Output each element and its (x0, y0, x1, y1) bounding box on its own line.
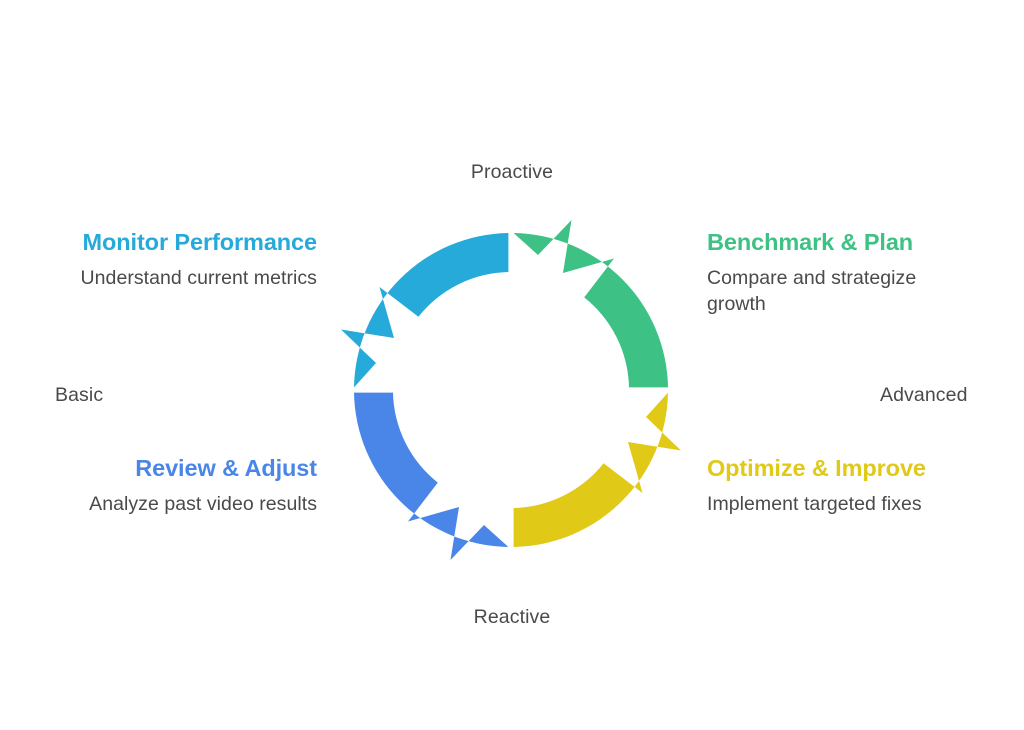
ring-segment-benchmark-plan[interactable] (514, 220, 668, 387)
quadrant-description-benchmark-plan: Compare and strategize growth (707, 266, 939, 317)
quadrant-description-optimize-improve: Implement targeted fixes (707, 492, 1007, 518)
quadrant-title-optimize-improve: Optimize & Improve (707, 454, 1007, 483)
axis-label-basic: Basic (55, 384, 103, 407)
ring-segment-monitor-performance[interactable] (341, 233, 508, 387)
diagram-canvas: Proactive Reactive Basic Advanced Monito… (0, 0, 1024, 730)
quadrant-review-adjust[interactable]: Review & Adjust Analyze past video resul… (17, 454, 317, 518)
cycle-ring-graphic (336, 215, 686, 565)
ring-arrow-review-adjust (354, 393, 508, 560)
quadrant-title-review-adjust: Review & Adjust (17, 454, 317, 483)
quadrant-description-monitor-performance: Understand current metrics (17, 266, 317, 292)
quadrant-benchmark-plan[interactable]: Benchmark & Plan Compare and strategize … (707, 228, 1007, 318)
ring-segment-optimize-improve[interactable] (514, 393, 681, 547)
ring-segment-review-adjust[interactable] (354, 393, 508, 560)
ring-arrow-benchmark-plan (514, 220, 668, 387)
axis-label-reactive: Reactive (0, 606, 1024, 629)
quadrant-title-benchmark-plan: Benchmark & Plan (707, 228, 1007, 257)
axis-label-proactive: Proactive (0, 161, 1024, 184)
axis-label-advanced: Advanced (880, 384, 968, 407)
quadrant-optimize-improve[interactable]: Optimize & Improve Implement targeted fi… (707, 454, 1007, 518)
quadrant-monitor-performance[interactable]: Monitor Performance Understand current m… (17, 228, 317, 292)
quadrant-description-review-adjust: Analyze past video results (17, 492, 317, 518)
ring-arrow-optimize-improve (514, 393, 681, 547)
cycle-ring-svg (336, 215, 686, 565)
ring-arrow-monitor-performance (341, 233, 508, 387)
quadrant-title-monitor-performance: Monitor Performance (17, 228, 317, 257)
